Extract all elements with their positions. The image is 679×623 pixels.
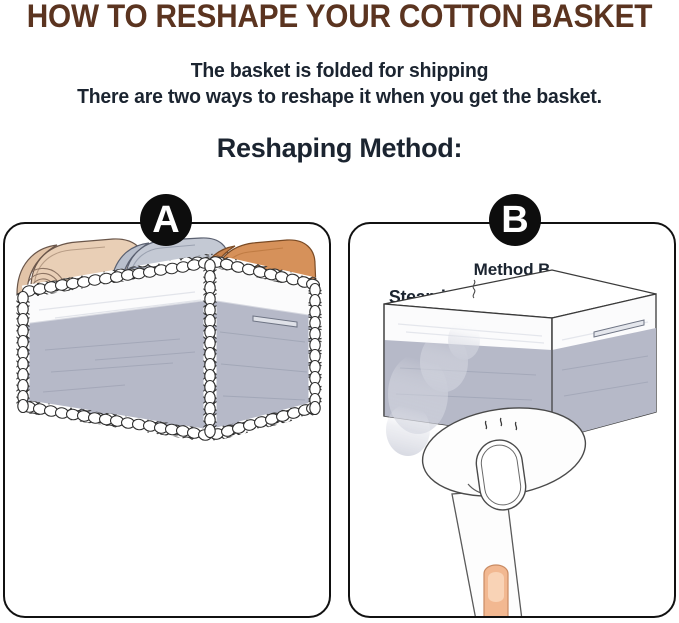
subtitle-block: The basket is folded for shipping There … [0, 58, 679, 110]
subtitle-line-1: The basket is folded for shipping [10, 58, 669, 84]
steam-cloud [386, 320, 480, 456]
method-a-desc-line-1: Stuffng the basket with blan- [7, 285, 328, 310]
method-b-desc-line-2: iron is a faster option [352, 310, 673, 335]
section-heading: Reshaping Method: [0, 133, 679, 164]
basket-rope-braid [18, 255, 321, 441]
method-a-panel: Method A Stuffng the basket with blan- k… [3, 222, 331, 618]
method-b-title: Method B [350, 260, 674, 280]
subtitle-line-2: There are two ways to reshape it when yo… [10, 84, 669, 110]
page-title: HOW TO RESHAPE YOUR COTTON BASKET [24, 0, 655, 34]
method-b-badge: B [489, 194, 541, 246]
method-a-desc-line-2: kets and pillows for several days [7, 310, 328, 335]
basket-with-rolled-blankets-illustration [5, 224, 329, 616]
method-a-description: Stuffng the basket with blan- kets and p… [5, 285, 329, 335]
steam-iron [417, 398, 591, 618]
basket-with-steam-iron-illustration [350, 224, 674, 616]
method-b-description: Steaming a basket on a steam iron is a f… [350, 285, 674, 335]
method-a-title: Method A [5, 260, 329, 280]
method-b-panel: Method B Steaming a basket on a steam ir… [348, 222, 676, 618]
steam-marks [485, 418, 516, 430]
infographic-page: HOW TO RESHAPE YOUR COTTON BASKET The ba… [0, 0, 679, 623]
method-a-badge: A [140, 194, 192, 246]
method-b-desc-line-1: Steaming a basket on a steam [352, 285, 673, 310]
